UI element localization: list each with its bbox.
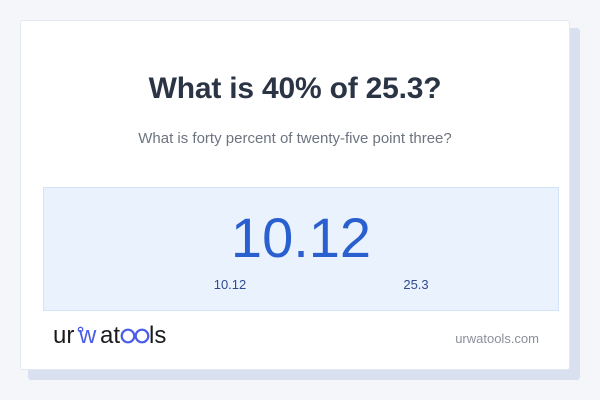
legend-base-value: 25.3	[376, 277, 456, 292]
svg-text:ur: ur	[53, 322, 74, 349]
page-title: What is 40% of 25.3?	[21, 72, 569, 106]
result-card: What is 40% of 25.3? What is forty perce…	[20, 20, 570, 370]
svg-text:ls: ls	[149, 322, 166, 349]
card-footer: ur w at ls urwatools.com	[21, 317, 569, 351]
urwatools-logo[interactable]: ur w at ls	[53, 321, 178, 351]
result-value: 10.12	[44, 210, 558, 266]
legend-answer-value: 10.12	[190, 277, 270, 292]
logo-wordmark-icon: ur w at ls	[53, 321, 178, 351]
svg-text:w: w	[78, 322, 97, 349]
result-panel: 10.12 10.12 25.3	[43, 187, 559, 311]
page-subtitle: What is forty percent of twenty-five poi…	[21, 130, 569, 147]
result-legend: 10.12 25.3	[44, 277, 558, 297]
site-url-label: urwatools.com	[455, 331, 539, 346]
svg-text:at: at	[100, 322, 120, 349]
